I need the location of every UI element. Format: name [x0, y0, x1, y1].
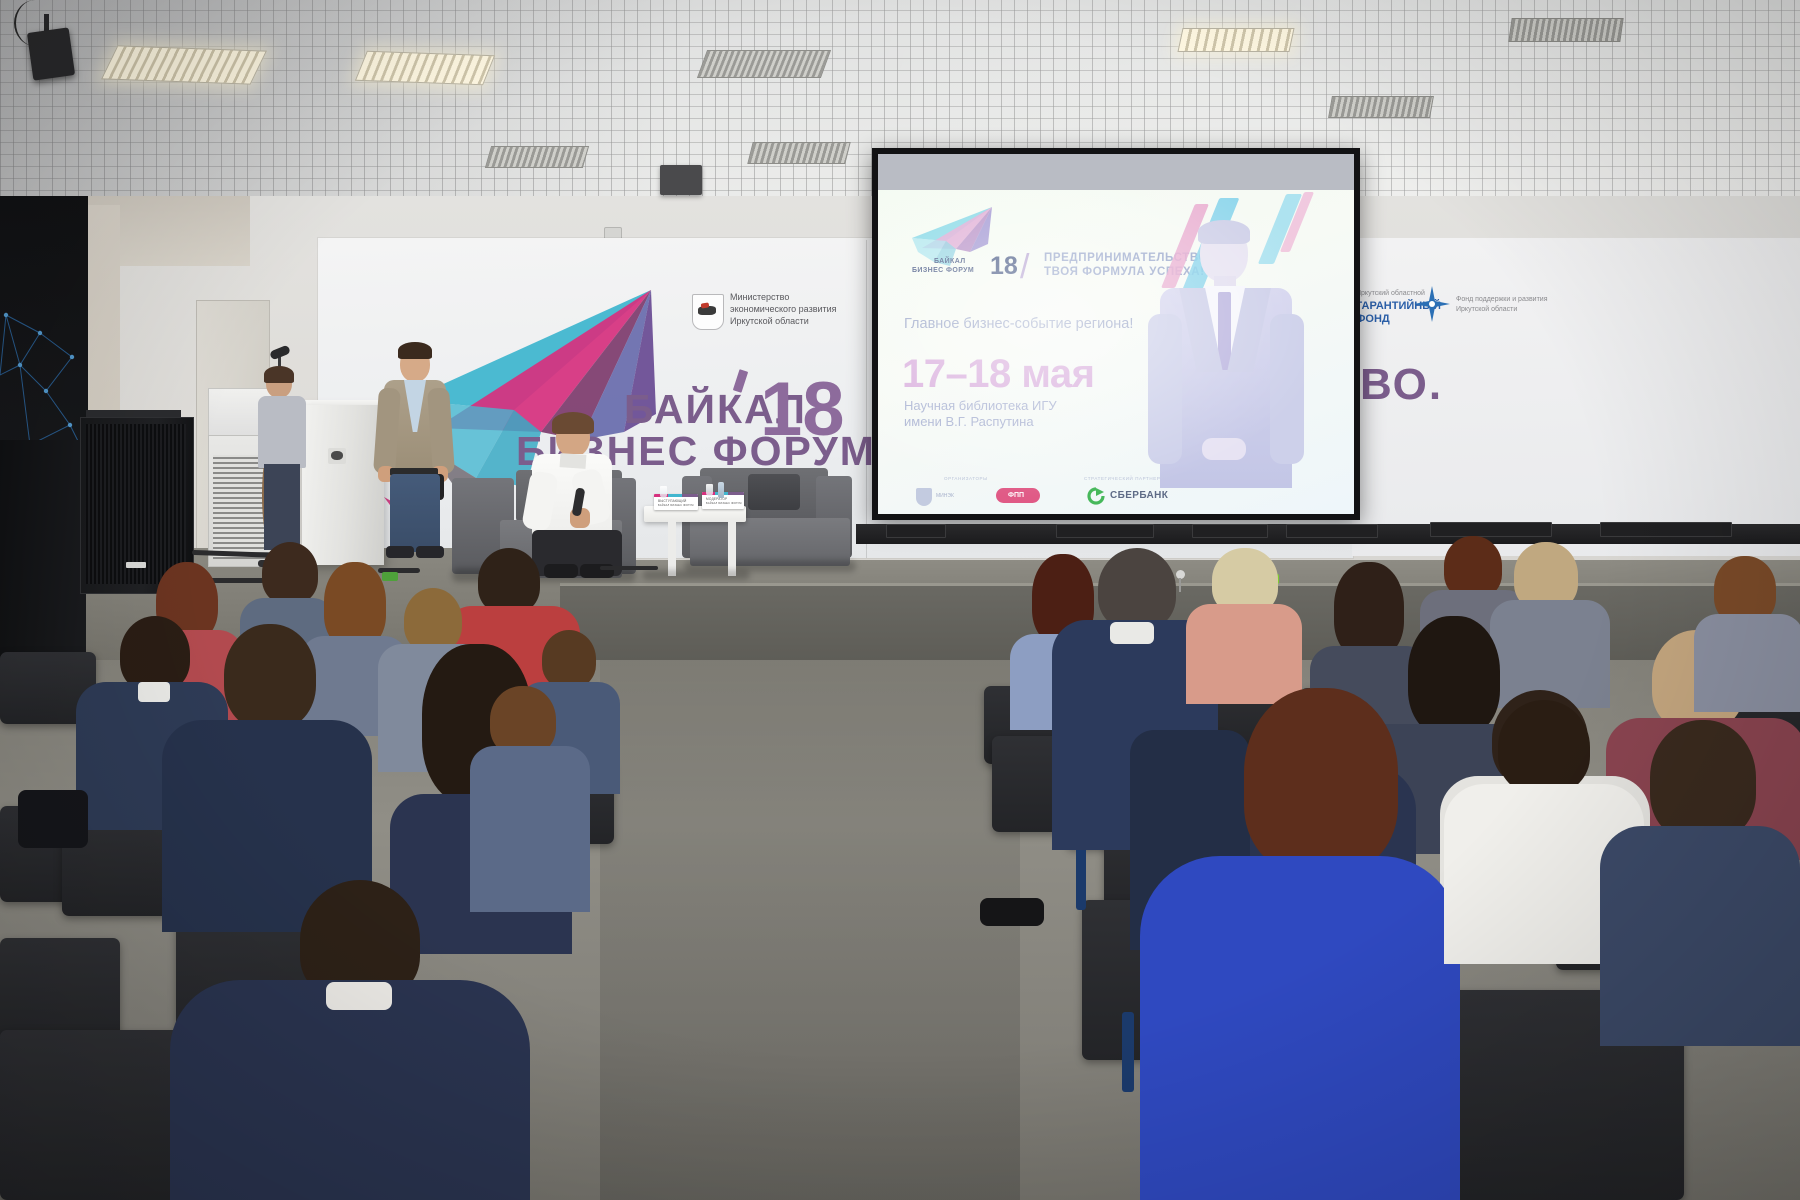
seated-speaker-hair	[552, 412, 594, 434]
podium-emblem-figure	[331, 451, 343, 460]
name-card-right-line-1: МОДЕРАТОР	[706, 497, 727, 501]
conference-hall-photo: БАЙКАЛ БИЗНЕС ФОРУМ 18 Министерство экон…	[0, 0, 1800, 1200]
compass-star-icon	[1412, 284, 1452, 324]
name-card-left-line-2: БАЙКАЛ БИЗНЕС ФОРУМ	[658, 504, 694, 507]
standing-presenter-shoe-left	[386, 546, 414, 558]
banner-seam-1	[866, 240, 867, 558]
innovation-fund-line-1: Фонд поддержки и развития	[1456, 296, 1548, 303]
av-box-6	[1600, 522, 1732, 537]
name-card-left-line-1: ВЫСТУПАЮЩИЙ	[658, 499, 687, 503]
audience-person	[1186, 548, 1302, 698]
ceiling-light-1	[101, 45, 267, 84]
coffee-table-shadow	[642, 570, 750, 580]
slide-headline: Главное бизнес-событие региона!	[904, 316, 1133, 332]
av-box-2	[1056, 524, 1154, 538]
av-technician	[258, 368, 318, 548]
audience-bag	[18, 790, 88, 848]
water-bottle	[718, 482, 724, 498]
ceiling-light-2	[355, 51, 495, 86]
av-box-1	[886, 524, 946, 538]
slide-venue-1: Научная библиотека ИГУ	[904, 398, 1057, 413]
water-glass-2	[706, 484, 713, 496]
ceiling-vent-5	[1508, 18, 1623, 42]
sponsor-logo-minek-text: МИНЭК	[936, 493, 954, 499]
sponsor-partner-label: СТРАТЕГИЧЕСКИЙ ПАРТНЕР	[1084, 476, 1160, 481]
businessman-arm-left	[1148, 314, 1182, 464]
wall-speaker	[660, 165, 702, 195]
audience-person-head	[1498, 700, 1590, 794]
slide-logo-text-2: БИЗНЕС ФОРУМ	[912, 267, 974, 274]
seated-speaker-collar	[560, 453, 587, 469]
audience-person-head	[1244, 688, 1398, 872]
sponsor-logo-minek	[916, 488, 932, 506]
businessman-arm-right	[1270, 314, 1304, 464]
audience-person	[470, 686, 590, 906]
audience-person	[1600, 720, 1800, 1040]
slide-venue-2: имени В.Г. Распутина	[904, 414, 1034, 429]
chair-frame	[1122, 1012, 1134, 1092]
av-box-3	[1192, 524, 1268, 538]
name-card-left-stripe-cyan	[668, 494, 682, 497]
innovation-fund-line-2: Иркутской области	[1456, 306, 1517, 313]
businessman-photo	[1142, 216, 1322, 514]
av-technician-hair	[264, 366, 294, 383]
name-card-right-line-2: БАЙКАЛ БИЗНЕС ФОРУМ	[706, 502, 742, 505]
audience-person-collar	[326, 982, 392, 1010]
ceiling-light-3	[1177, 28, 1294, 52]
audience-person	[1140, 688, 1460, 1200]
sponsor-logo-sberbank-text: СБЕРБАНК	[1110, 490, 1168, 501]
ceiling-vent-3	[747, 142, 850, 164]
audience-person-head	[1098, 548, 1176, 630]
projection-screen-masking	[878, 154, 1354, 190]
audience-person-torso	[1694, 614, 1800, 712]
banner-year-18: 18	[760, 372, 845, 448]
projector-cable	[14, 0, 56, 46]
audience-person-shoe	[980, 898, 1044, 926]
presentation-slide: БАЙКАЛ БИЗНЕС ФОРУМ 18 / ПРЕДПРИНИМАТЕЛЬ…	[878, 190, 1354, 514]
name-card-left-stripe-purple	[682, 494, 698, 497]
chair-frame	[1076, 840, 1086, 910]
coffee-table-leg-right	[728, 520, 736, 576]
stage-cable-4	[600, 566, 658, 570]
coffee-table-leg-left	[668, 520, 676, 576]
audience-person-collar	[1110, 622, 1154, 644]
loudspeaker-grille	[86, 424, 186, 584]
audience-person-head	[224, 624, 316, 730]
sofa-right-seat	[690, 518, 850, 566]
standing-presenter-hair	[398, 342, 432, 359]
audience-person-torso	[1140, 856, 1460, 1200]
ceiling-vent-1	[697, 50, 831, 78]
ceiling-vent-4	[1328, 96, 1434, 118]
audience-person-torso	[170, 980, 530, 1200]
audience-person	[162, 624, 372, 924]
guarantee-fund-sub: ФОНД	[1356, 313, 1390, 325]
audience-person-head	[1650, 720, 1756, 840]
sofa-right-cushion	[748, 474, 800, 510]
businessman-hair	[1198, 220, 1250, 244]
audience-person	[170, 880, 530, 1200]
av-technician-torso	[258, 396, 306, 468]
standing-presenter-arm-right	[427, 387, 455, 474]
ministry-line-3: Иркутской области	[730, 316, 809, 326]
businessman-hand	[1202, 438, 1246, 460]
sponsor-logo-fpp-text: ФПП	[1008, 492, 1024, 499]
slide-logo-year: 18	[990, 252, 1018, 281]
slide-logo-text-1: БАЙКАЛ	[934, 258, 966, 265]
slide-divider: /	[1020, 248, 1029, 287]
standing-presenter	[372, 340, 464, 560]
slide-dates: 17–18 мая	[902, 352, 1095, 397]
banner-right-word: ВО.	[1360, 360, 1443, 410]
standing-presenter-shoe-right	[416, 546, 444, 558]
ceiling-vent-2	[485, 146, 589, 168]
av-box-4	[1286, 524, 1378, 538]
ministry-line-1: Министерство	[730, 292, 789, 302]
av-box-5	[1430, 522, 1552, 537]
av-technician-legs	[264, 464, 300, 550]
loudspeaker-lower	[0, 440, 86, 675]
standing-presenter-legs	[390, 474, 440, 552]
water-glass-1	[660, 486, 667, 498]
audience-person-head	[404, 588, 462, 652]
audience-person-torso	[1600, 826, 1800, 1046]
center-aisle	[600, 660, 1020, 1200]
ministry-line-2: экономического развития	[730, 304, 837, 314]
sponsor-organizers-label: ОРГАНИЗАТОРЫ	[944, 476, 988, 481]
name-card-right-stripe-purple	[728, 492, 744, 495]
audience-person	[1694, 556, 1800, 706]
sponsor-logo-sberbank-icon	[1086, 487, 1106, 505]
